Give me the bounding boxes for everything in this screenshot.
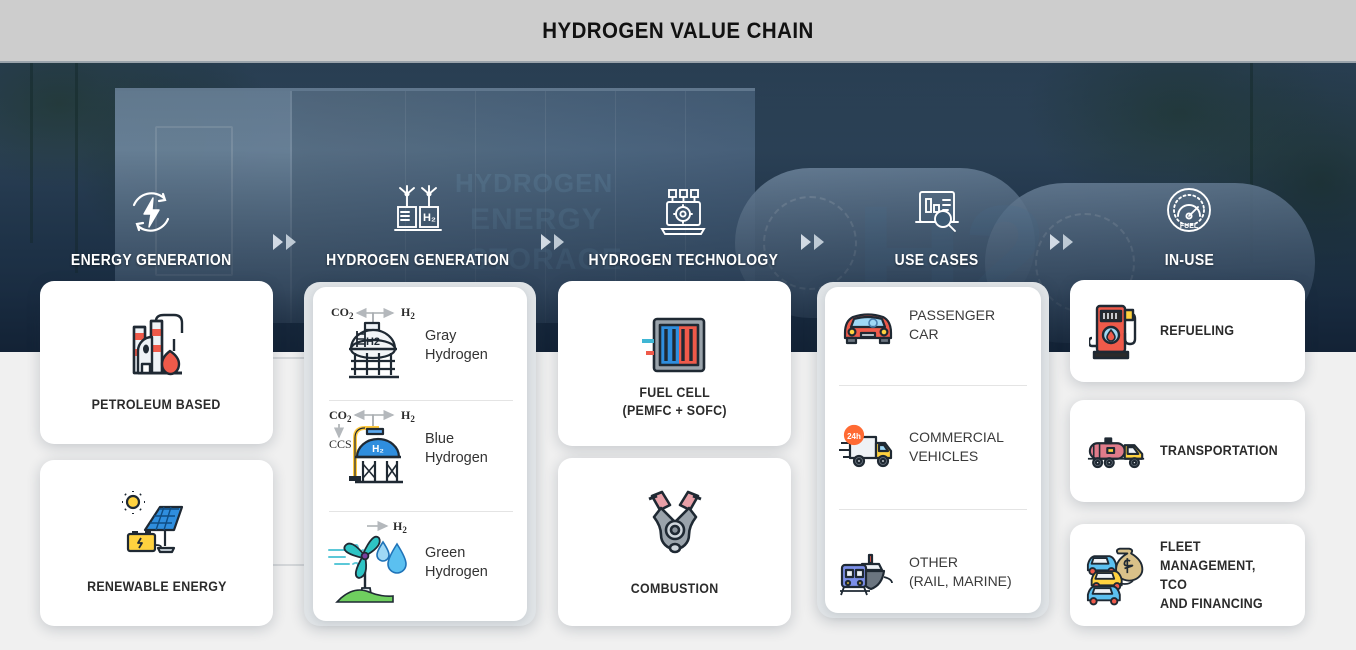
train-ship-icon [837, 547, 899, 597]
engine-piston-icon [637, 490, 713, 563]
svg-text:H2: H2 [401, 408, 415, 424]
stage-hydrogen-generation[interactable]: H₂ HYDROGEN GENERATION [318, 170, 518, 270]
svg-text:H2: H2 [401, 305, 415, 321]
svg-text:H2: H2 [393, 519, 407, 535]
passenger-car-icon [837, 303, 899, 347]
svg-text:H₂: H₂ [423, 212, 436, 224]
stage-in-use[interactable]: FUEL IN-USE [1089, 170, 1289, 270]
card-label: FLEET MANAGEMENT, TCO AND FINANCING [1160, 537, 1280, 614]
stage-label: IN-USE [1164, 252, 1213, 270]
card-hydrogen-generation[interactable]: CO2 H2 [313, 287, 527, 621]
tanker-truck-icon [1086, 427, 1148, 475]
svg-text:H2: H2 [366, 336, 380, 348]
card-title: PETROLEUM BASED [92, 396, 221, 414]
row-divider [839, 385, 1027, 386]
oil-refinery-icon [118, 311, 196, 388]
row-divider [839, 509, 1027, 510]
stage-label: ENERGY GENERATION [71, 252, 232, 270]
ccs-label: CCS [329, 437, 352, 451]
energy-cycle-bolt-icon [124, 184, 178, 240]
fuel-gauge-icon: FUEL [1162, 184, 1216, 240]
row-other-rail-marine[interactable]: OTHER(RAIL, MARINE) [837, 547, 1029, 597]
card-title: FUEL CELL (PEMFC + SOFC) [622, 384, 726, 420]
stage-label: USE CASES [895, 252, 979, 270]
row-gray-hydrogen[interactable]: CO2 H2 [327, 301, 515, 398]
card-fuel-cell[interactable]: FUEL CELL (PEMFC + SOFC) [558, 281, 791, 446]
card-renewable-energy[interactable]: RENEWABLE ENERGY [40, 460, 273, 626]
stage-strip: ENERGY GENERATION H₂ HYDROGEN GENERATION [0, 170, 1356, 270]
row-label: PASSENGERCAR [909, 306, 995, 345]
row-label: Gray Hydrogen [425, 301, 488, 365]
svg-text:CO2: CO2 [329, 408, 352, 424]
stage-energy-generation[interactable]: ENERGY GENERATION [51, 170, 251, 270]
svg-text:24h: 24h [847, 432, 861, 441]
cars-money-bag-icon [1086, 542, 1148, 608]
card-title: COMBUSTION [631, 580, 719, 598]
fuel-pump-icon [1086, 300, 1148, 362]
row-divider [329, 511, 513, 512]
row-divider [329, 400, 513, 401]
row-blue-hydrogen[interactable]: CO2 H2 CCS [327, 404, 515, 509]
laptop-gear-icon [656, 184, 710, 240]
card-fleet-management[interactable]: FLEET MANAGEMENT, TCO AND FINANCING [1070, 524, 1305, 626]
card-title: RENEWABLE ENERGY [87, 578, 227, 596]
stage-use-cases[interactable]: USE CASES [837, 170, 1037, 270]
stage-separator-2 [538, 232, 572, 252]
row-label: Green Hydrogen [425, 514, 488, 582]
stage-label: HYDROGEN GENERATION [326, 252, 509, 270]
card-refueling[interactable]: REFUELING [1070, 280, 1305, 382]
gas-label-left: CO [331, 305, 349, 319]
stage-separator-3 [798, 232, 832, 252]
fuel-cell-stack-icon [638, 313, 712, 384]
solar-panel-battery-icon [116, 490, 198, 565]
row-label: COMMERCIALVEHICLES [909, 428, 1004, 467]
row-label: Blue Hydrogen [425, 404, 488, 468]
stage-separator-4 [1047, 232, 1081, 252]
stage-hydrogen-technology[interactable]: HYDROGEN TECHNOLOGY [583, 170, 783, 270]
card-label: TRANSPORTATION [1160, 441, 1278, 460]
svg-text:CO2: CO2 [331, 305, 354, 321]
row-passenger-car[interactable]: PASSENGERCAR [837, 303, 1029, 347]
card-transportation[interactable]: TRANSPORTATION [1070, 400, 1305, 502]
card-label: REFUELING [1160, 321, 1234, 340]
row-green-hydrogen[interactable]: H2 [327, 514, 515, 611]
card-petroleum-based[interactable]: PETROLEUM BASED [40, 281, 273, 444]
gas-label-left: CO [329, 408, 347, 422]
svg-text:FUEL: FUEL [1180, 223, 1199, 230]
wind-turbine-h2-icon: H₂ [390, 184, 446, 240]
report-magnifier-icon [910, 184, 964, 240]
svg-text:H₂: H₂ [372, 444, 384, 455]
stage-separator-1 [270, 232, 304, 252]
row-commercial-vehicles[interactable]: 24h COMMERCIALVEHICLES [837, 423, 1029, 471]
row-label: OTHER(RAIL, MARINE) [909, 553, 1012, 592]
stage-label: HYDROGEN TECHNOLOGY [588, 252, 778, 270]
value-chain-grid: PETROLEUM BASED [0, 0, 1356, 650]
card-combustion[interactable]: COMBUSTION [558, 458, 791, 626]
card-use-cases[interactable]: PASSENGERCAR 24h [825, 287, 1041, 613]
commercial-truck-24h-icon: 24h [837, 423, 899, 471]
